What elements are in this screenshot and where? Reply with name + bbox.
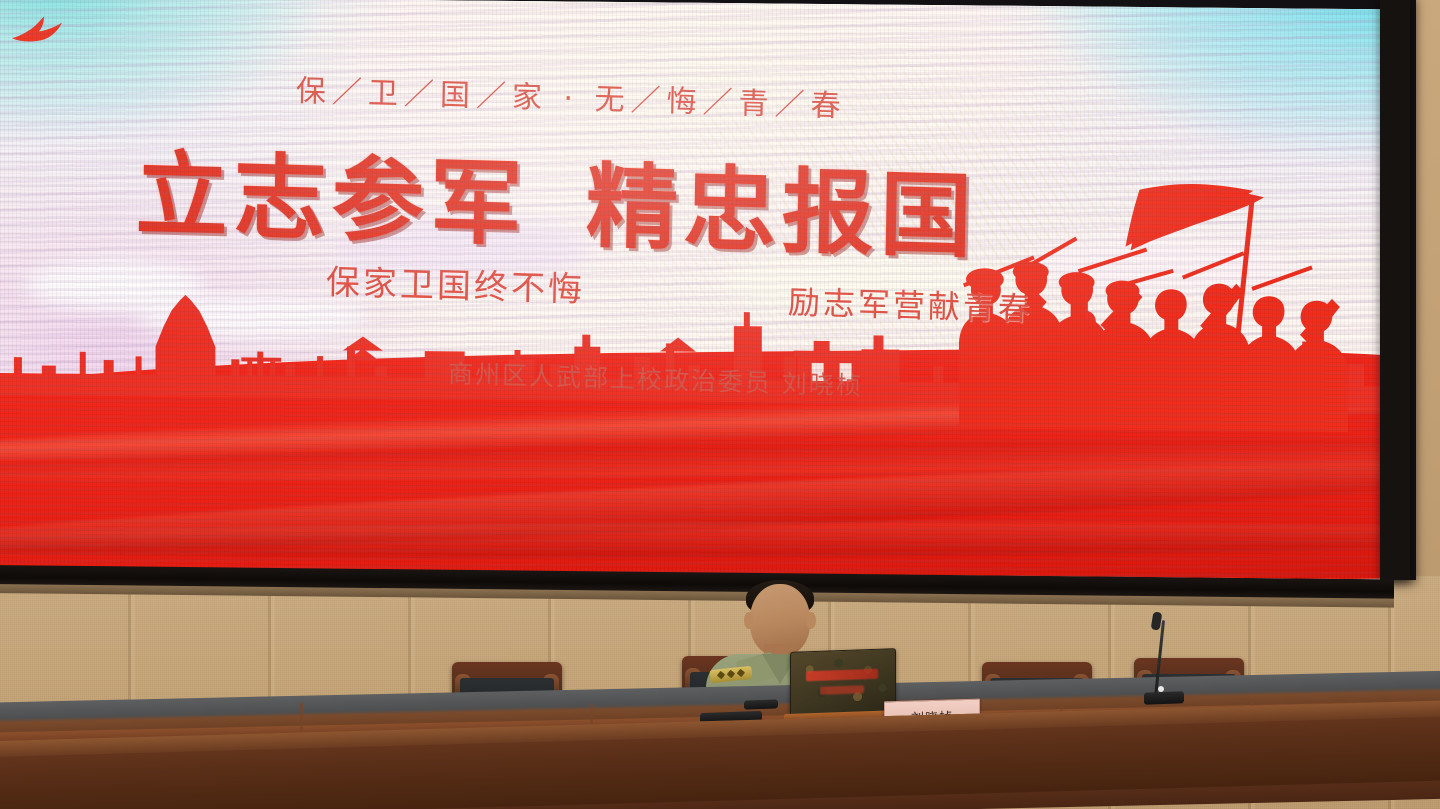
rank-star	[727, 670, 735, 678]
screen-subtitle-left: 保家卫国终不悔	[326, 255, 586, 311]
led-screen: 保／卫／国／家 · 无／悔／青／春 立志参军精忠报国 保家卫国终不悔 励志军营献…	[0, 0, 1392, 579]
mic-base	[1144, 691, 1184, 704]
person-ear	[806, 612, 816, 629]
rank-star	[717, 671, 725, 679]
led-screen-frame: 保／卫／国／家 · 无／悔／青／春 立志参军精忠报国 保家卫国终不悔 励志军营献…	[0, 0, 1416, 580]
screen-subtitle-right: 励志军营献青春	[788, 277, 1034, 330]
laptop-lid-camouflage	[790, 648, 896, 720]
headline-right: 精忠报国	[585, 153, 979, 271]
screenshot-root: 保／卫／国／家 · 无／悔／青／春 立志参军精忠报国 保家卫国终不悔 励志军营献…	[0, 0, 1440, 809]
desk-accessory	[744, 699, 778, 709]
screen-headline: 立志参军精忠报国	[135, 120, 979, 276]
laptop[interactable]	[790, 648, 896, 720]
gooseneck-microphone[interactable]	[1140, 612, 1180, 708]
rank-star	[737, 669, 745, 677]
person-ear	[744, 612, 754, 629]
headline-left: 立志参军	[135, 141, 529, 259]
led-screen-right-edge	[1380, 0, 1410, 580]
bird-icon	[10, 14, 66, 49]
laptop-lid-text-secondary	[820, 685, 864, 695]
